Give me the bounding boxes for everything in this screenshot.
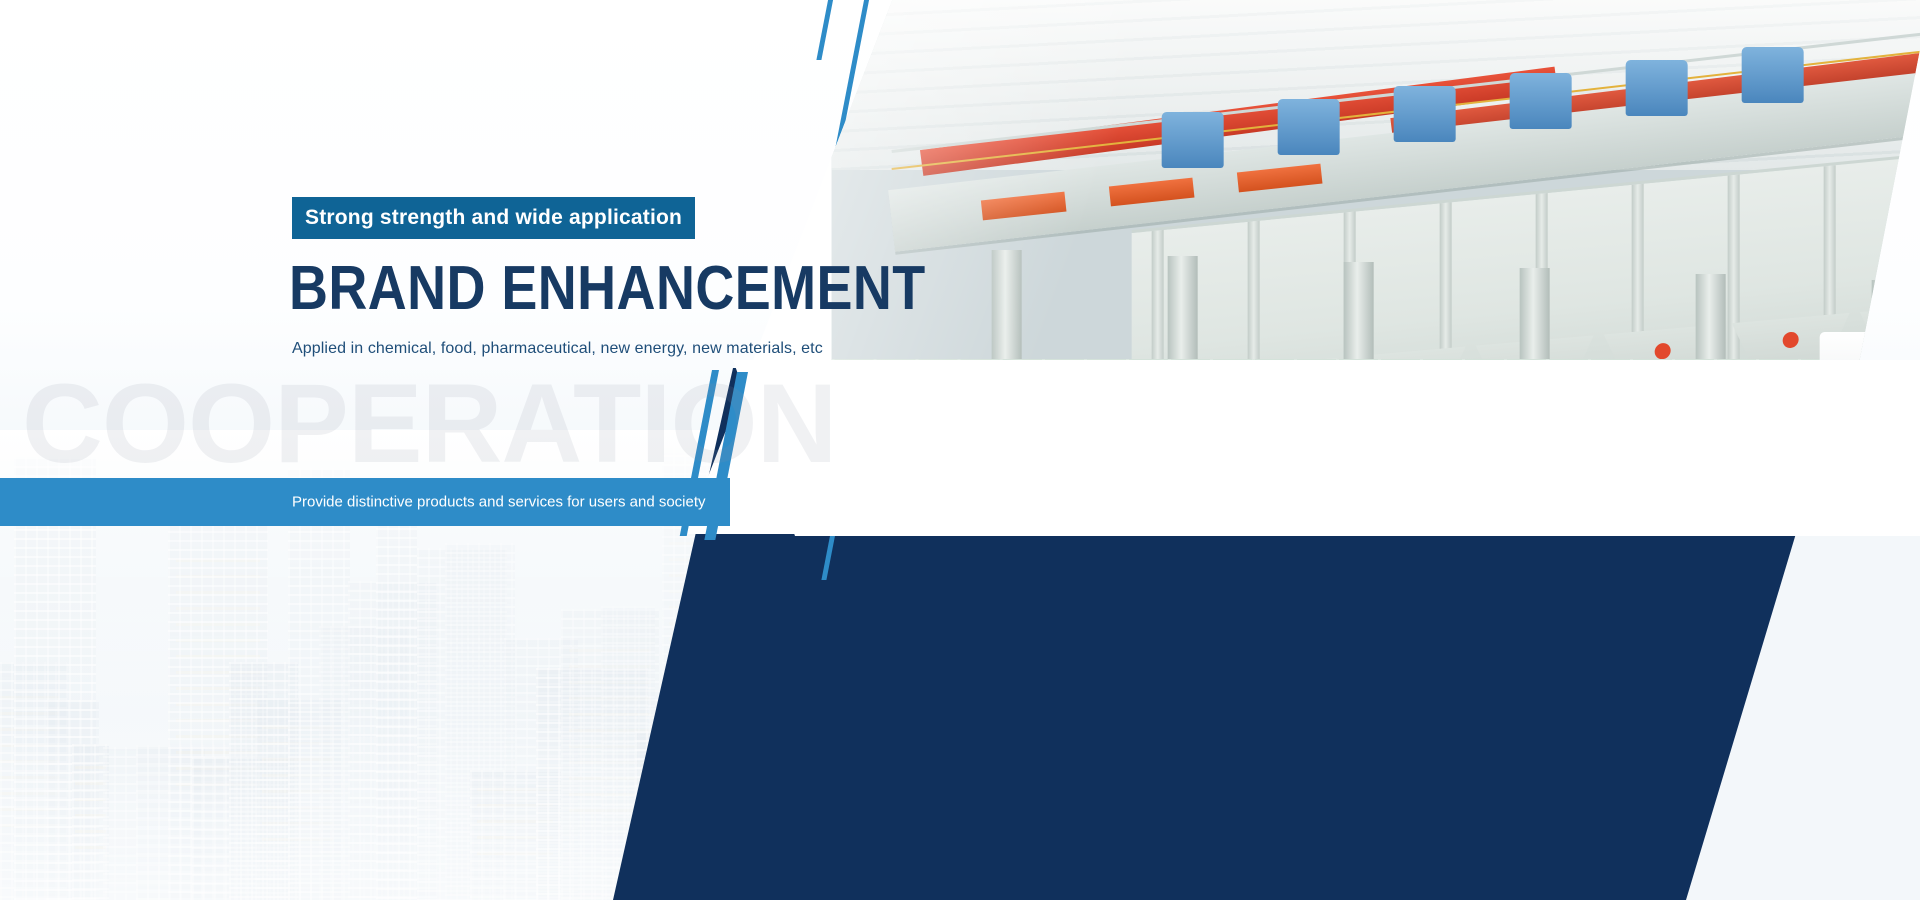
banner-stage: COOPERATION Strong strength and wide app… xyxy=(0,0,1920,900)
tagline-ribbon: Provide distinctive products and service… xyxy=(0,478,730,526)
photo-bottom-backing xyxy=(733,360,1920,540)
subtitle-text: Applied in chemical, food, pharmaceutica… xyxy=(292,340,823,358)
banner-content: COOPERATION Strong strength and wide app… xyxy=(0,0,900,900)
page-title: BRAND ENHANCEMENT xyxy=(289,258,926,320)
eyebrow-badge: Strong strength and wide application xyxy=(292,197,695,239)
tagline-text: Provide distinctive products and service… xyxy=(292,494,706,511)
watermark-text: COOPERATION xyxy=(22,368,837,480)
